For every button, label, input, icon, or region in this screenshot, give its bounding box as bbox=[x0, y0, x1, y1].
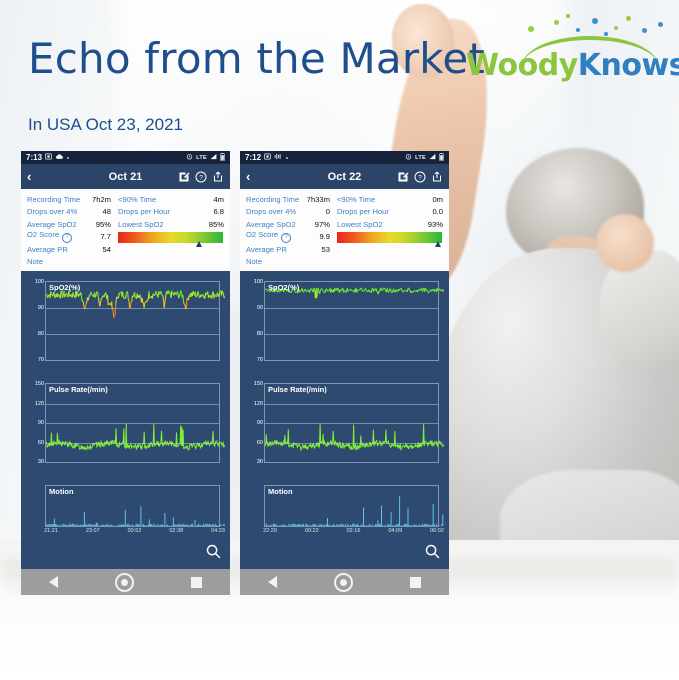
o2-score-gradient bbox=[337, 232, 442, 243]
o2-score-gauge bbox=[111, 231, 224, 244]
o2-score-value: 9.9 bbox=[304, 232, 330, 241]
pulse-gridline bbox=[265, 404, 438, 405]
back-triangle-icon[interactable] bbox=[268, 576, 277, 588]
pulse-ytick: 120 bbox=[254, 401, 263, 407]
recording-time-value: 7h33m bbox=[304, 195, 330, 204]
o2-score-label: O2 Score? bbox=[27, 230, 85, 243]
logo-dot bbox=[642, 28, 647, 33]
drops-per-hour-value: 0.0 bbox=[399, 207, 443, 216]
page-subtitle: In USA Oct 23, 2021 bbox=[28, 115, 183, 135]
svg-text:?: ? bbox=[199, 174, 203, 181]
android-navigation-bar bbox=[21, 569, 230, 595]
search-icon[interactable] bbox=[424, 543, 441, 565]
recents-square-icon[interactable] bbox=[410, 577, 421, 588]
music-icon bbox=[274, 153, 282, 162]
stat-row-avg-spo2: Average SpO2 95% Lowest SpO2 85% bbox=[27, 218, 224, 231]
spo2-ytick: 70 bbox=[38, 357, 44, 363]
below90-value: 4m bbox=[180, 195, 224, 204]
motion-xtick: 23:07 bbox=[86, 528, 100, 534]
o2-score-gradient bbox=[118, 232, 223, 243]
motion-chart: Motion 22:2900:2202:1604:0906:02 bbox=[244, 485, 445, 541]
stat-row-avg-spo2: Average SpO2 97% Lowest SpO2 93% bbox=[246, 218, 443, 231]
pulse-gridline bbox=[265, 423, 438, 424]
brand-logo: WoodyKnows® bbox=[466, 12, 671, 90]
logo-text: WoodyKnows® bbox=[466, 48, 679, 83]
lowest-spo2-value: 85% bbox=[180, 220, 224, 229]
pulse-rate-chart: Pulse Rate(/min) 150120906030 bbox=[25, 383, 226, 475]
back-triangle-icon[interactable] bbox=[49, 576, 58, 588]
drops-value: 0 bbox=[304, 207, 330, 216]
status-time: 7:12 bbox=[245, 153, 261, 162]
stat-row-average-pr: Average PR 53 bbox=[246, 243, 443, 256]
stat-row-average-pr: Average PR 54 bbox=[27, 243, 224, 256]
motion-xtick: 22:29 bbox=[263, 528, 277, 534]
spo2-plot-area: 100908070 bbox=[264, 281, 439, 361]
home-circle-icon[interactable] bbox=[115, 573, 134, 592]
status-bar: 7:12 LTE bbox=[240, 151, 449, 164]
signal-icon bbox=[210, 153, 217, 162]
o2-score-value: 7.7 bbox=[85, 232, 111, 241]
pulse-gridline bbox=[46, 423, 219, 424]
status-bar: 7:13 LTE bbox=[21, 151, 230, 164]
help-circle-icon[interactable]: ? bbox=[281, 233, 291, 243]
alarm-icon bbox=[405, 153, 412, 162]
spo2-chart: SpO2(%) 100908070 bbox=[25, 281, 226, 373]
drops-value: 48 bbox=[85, 207, 111, 216]
logo-dot bbox=[566, 14, 570, 18]
logo-dot bbox=[604, 32, 608, 36]
dot-icon bbox=[66, 153, 70, 162]
search-icon[interactable] bbox=[205, 543, 222, 565]
person-hand-on-neck bbox=[596, 214, 654, 272]
note-label: Note bbox=[27, 257, 85, 266]
help-icon[interactable]: ? bbox=[195, 171, 207, 183]
stat-row-o2-score: O2 Score? 7.7 bbox=[27, 231, 224, 244]
share-icon[interactable] bbox=[431, 171, 443, 183]
motion-xtick: 06:02 bbox=[430, 528, 444, 534]
drops-per-hour-label: Drops per Hour bbox=[111, 207, 180, 216]
spo2-gridline bbox=[265, 334, 438, 335]
motion-xtick: 00:22 bbox=[305, 528, 319, 534]
spo2-trace bbox=[46, 282, 225, 360]
below90-label: <90% Time bbox=[330, 195, 399, 204]
lowest-spo2-value: 93% bbox=[399, 220, 443, 229]
motion-x-axis: 22:2900:2202:1604:0906:02 bbox=[264, 527, 439, 536]
signal-icon bbox=[429, 153, 436, 162]
pulse-gridline bbox=[265, 443, 438, 444]
spo2-ytick: 70 bbox=[257, 357, 263, 363]
motion-xtick: 21:21 bbox=[44, 528, 58, 534]
lte-icon: LTE bbox=[415, 155, 426, 161]
average-spo2-value: 97% bbox=[304, 220, 330, 229]
pulse-ytick: 60 bbox=[257, 440, 263, 446]
stat-row-recording-time: Recording Time 7h2m <90% Time 4m bbox=[27, 193, 224, 206]
phone-screen: 7:13 LTE ‹ Oct 21 ? bbox=[21, 151, 230, 569]
spo2-ytick: 90 bbox=[38, 305, 44, 311]
logo-dot bbox=[554, 20, 559, 25]
below90-value: 0m bbox=[399, 195, 443, 204]
spo2-ytick: 90 bbox=[257, 305, 263, 311]
help-circle-icon[interactable]: ? bbox=[62, 233, 72, 243]
back-button[interactable]: ‹ bbox=[27, 170, 31, 183]
logo-dot bbox=[614, 26, 618, 30]
logo-word-woody: Woody bbox=[466, 48, 578, 83]
average-spo2-label: Average SpO2 bbox=[27, 220, 85, 229]
o2-score-marker bbox=[435, 241, 441, 247]
stat-row-recording-time: Recording Time 7h33m <90% Time 0m bbox=[246, 193, 443, 206]
spo2-ytick: 100 bbox=[35, 279, 44, 285]
motion-chart: Motion 21:2123:0700:5202:3804:23 bbox=[25, 485, 226, 541]
logo-dot bbox=[626, 16, 631, 21]
average-pr-label: Average PR bbox=[27, 245, 85, 254]
spo2-chart: SpO2(%) 100908070 bbox=[244, 281, 445, 373]
cloud-icon bbox=[55, 153, 63, 162]
edit-icon[interactable] bbox=[178, 171, 190, 183]
summary-stats-table: Recording Time 7h2m <90% Time 4m Drops o… bbox=[21, 189, 230, 271]
average-spo2-label: Average SpO2 bbox=[246, 220, 304, 229]
o2-score-marker bbox=[196, 241, 202, 247]
stat-row-note[interactable]: Note bbox=[246, 256, 443, 269]
logo-dot bbox=[658, 22, 663, 27]
stat-row-o2-score: O2 Score? 9.9 bbox=[246, 231, 443, 244]
summary-stats-table: Recording Time 7h33m <90% Time 0m Drops … bbox=[240, 189, 449, 271]
recording-time-label: Recording Time bbox=[246, 195, 304, 204]
spo2-gridline bbox=[265, 308, 438, 309]
screenshot-icon bbox=[264, 153, 271, 162]
stat-row-note[interactable]: Note bbox=[27, 256, 224, 269]
pulse-gridline bbox=[46, 404, 219, 405]
o2-score-gauge bbox=[330, 231, 443, 244]
pulse-ytick: 60 bbox=[38, 440, 44, 446]
o2-score-label: O2 Score? bbox=[246, 230, 304, 243]
spo2-gridline bbox=[46, 334, 219, 335]
lte-icon: LTE bbox=[196, 155, 207, 161]
pulse-ytick: 120 bbox=[35, 401, 44, 407]
app-nav-bar: ‹ Oct 21 ? bbox=[21, 164, 230, 189]
drops-per-hour-value: 6.8 bbox=[180, 207, 224, 216]
phone-screenshot-2: 7:12 LTE ‹ Oct 22 ? bbox=[240, 151, 449, 595]
motion-chart-title: Motion bbox=[268, 487, 293, 496]
edit-icon[interactable] bbox=[397, 171, 409, 183]
pulse-ytick: 30 bbox=[257, 459, 263, 465]
drops-label: Drops over 4% bbox=[27, 207, 85, 216]
drops-per-hour-label: Drops per Hour bbox=[330, 207, 399, 216]
stat-row-drops: Drops over 4% 0 Drops per Hour 0.0 bbox=[246, 206, 443, 219]
spo2-ytick: 80 bbox=[38, 331, 44, 337]
average-pr-value: 53 bbox=[304, 245, 330, 254]
drops-label: Drops over 4% bbox=[246, 207, 304, 216]
status-time: 7:13 bbox=[26, 153, 42, 162]
pulse-chart-title: Pulse Rate(/min) bbox=[49, 385, 108, 394]
motion-xtick: 02:16 bbox=[347, 528, 361, 534]
battery-icon bbox=[439, 153, 444, 163]
help-icon[interactable]: ? bbox=[414, 171, 426, 183]
svg-text:?: ? bbox=[418, 174, 422, 181]
lowest-spo2-label: Lowest SpO2 bbox=[111, 220, 180, 229]
spo2-chart-title: SpO2(%) bbox=[268, 283, 299, 292]
alarm-icon bbox=[186, 153, 193, 162]
pulse-plot-area: 150120906030 bbox=[264, 383, 439, 463]
pulse-chart-title: Pulse Rate(/min) bbox=[268, 385, 327, 394]
average-pr-label: Average PR bbox=[246, 245, 304, 254]
spo2-ytick: 100 bbox=[254, 279, 263, 285]
motion-xtick: 00:52 bbox=[128, 528, 142, 534]
pulse-gridline bbox=[46, 443, 219, 444]
average-spo2-value: 95% bbox=[85, 220, 111, 229]
pulse-ytick: 150 bbox=[35, 381, 44, 387]
back-button[interactable]: ‹ bbox=[246, 170, 250, 183]
app-nav-bar: ‹ Oct 22 ? bbox=[240, 164, 449, 189]
logo-dot bbox=[528, 26, 534, 32]
screenshot-icon bbox=[45, 153, 52, 162]
motion-xtick: 04:09 bbox=[388, 528, 402, 534]
android-navigation-bar bbox=[240, 569, 449, 595]
spo2-trace bbox=[265, 282, 444, 360]
dot-icon bbox=[285, 153, 289, 162]
pulse-ytick: 90 bbox=[257, 420, 263, 426]
spo2-plot-area: 100908070 bbox=[45, 281, 220, 361]
pulse-rate-chart: Pulse Rate(/min) 150120906030 bbox=[244, 383, 445, 475]
spo2-ytick: 80 bbox=[257, 331, 263, 337]
logo-dot bbox=[592, 18, 598, 24]
motion-xtick: 02:38 bbox=[169, 528, 183, 534]
note-label: Note bbox=[246, 257, 304, 266]
page-title: Echo from the Market bbox=[28, 34, 485, 83]
phone-screenshot-1: 7:13 LTE ‹ Oct 21 ? bbox=[21, 151, 230, 595]
share-icon[interactable] bbox=[212, 171, 224, 183]
motion-x-axis: 21:2123:0700:5202:3804:23 bbox=[45, 527, 220, 536]
recording-time-value: 7h2m bbox=[85, 195, 111, 204]
pulse-ytick: 30 bbox=[38, 459, 44, 465]
logo-dot bbox=[576, 28, 580, 32]
recording-time-label: Recording Time bbox=[27, 195, 85, 204]
below90-label: <90% Time bbox=[111, 195, 180, 204]
motion-xtick: 04:23 bbox=[211, 528, 225, 534]
pulse-plot-area: 150120906030 bbox=[45, 383, 220, 463]
spo2-chart-title: SpO2(%) bbox=[49, 283, 80, 292]
average-pr-value: 54 bbox=[85, 245, 111, 254]
home-circle-icon[interactable] bbox=[334, 573, 353, 592]
lowest-spo2-label: Lowest SpO2 bbox=[330, 220, 399, 229]
motion-chart-title: Motion bbox=[49, 487, 74, 496]
phone-screen: 7:12 LTE ‹ Oct 22 ? bbox=[240, 151, 449, 569]
logo-word-knows: Knows bbox=[578, 48, 679, 83]
battery-icon bbox=[220, 153, 225, 163]
stat-row-drops: Drops over 4% 48 Drops per Hour 6.8 bbox=[27, 206, 224, 219]
pulse-ytick: 90 bbox=[38, 420, 44, 426]
spo2-gridline bbox=[46, 308, 219, 309]
recents-square-icon[interactable] bbox=[191, 577, 202, 588]
pulse-ytick: 150 bbox=[254, 381, 263, 387]
